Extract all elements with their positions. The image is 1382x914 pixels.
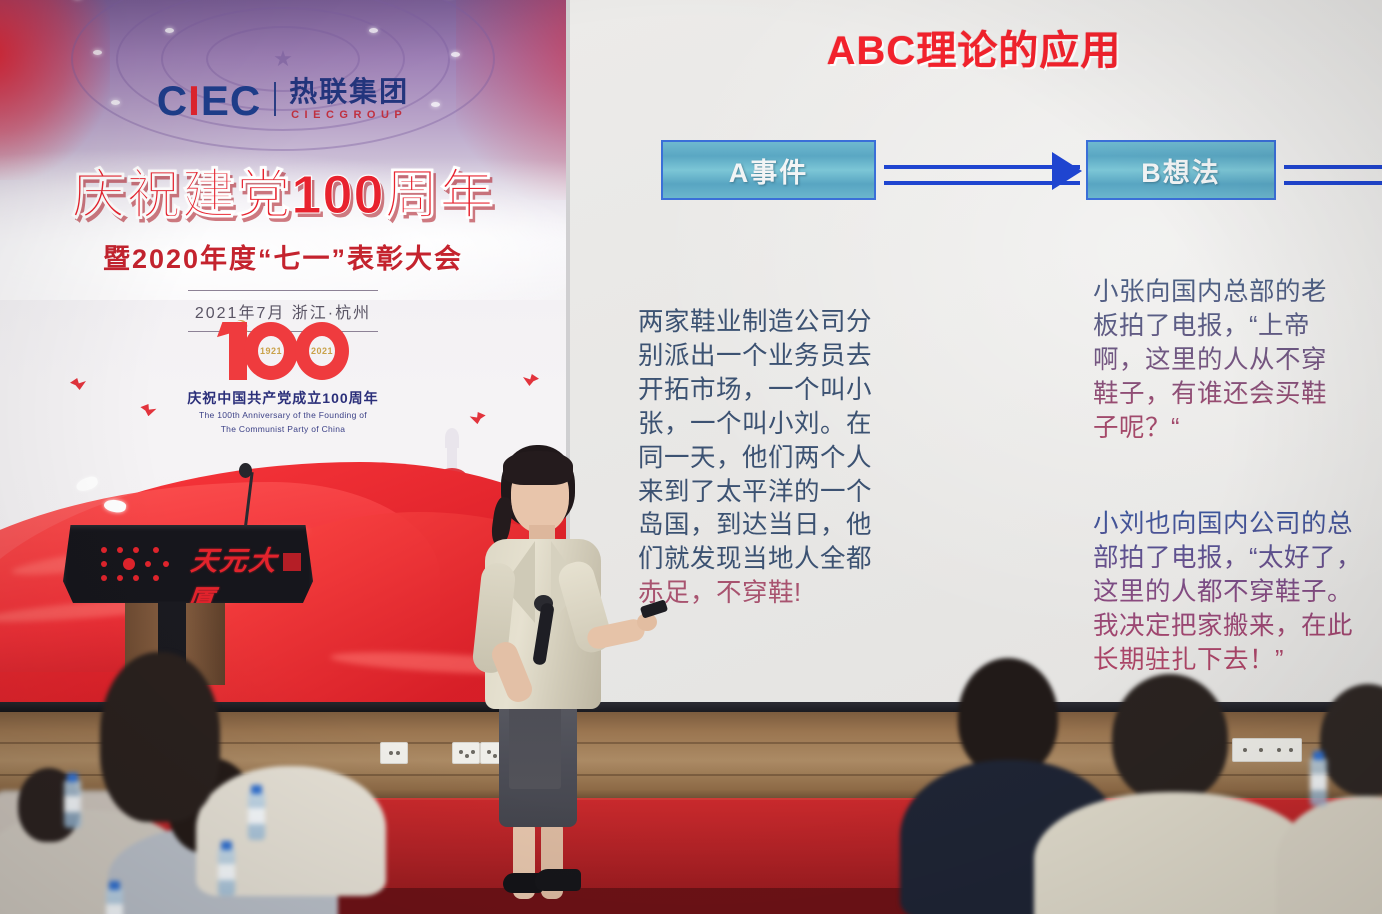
slide-title: ABC理论的应用 (566, 18, 1382, 76)
emblem-digit-zero-2: 2021 (295, 322, 349, 380)
water-bottle-2 (248, 792, 265, 840)
para-left-line-2: 开拓市场，一个叫小 (638, 374, 906, 408)
brand-lockup: CIEC 热联集团 CIECGROUP (0, 78, 566, 121)
para-rt-line-3: 鞋子，有谁还会买鞋 (1093, 378, 1373, 412)
dome-star-icon: ★ (273, 48, 293, 70)
flow-box-b-thought: B想法 (1086, 140, 1276, 200)
water-bottle-1 (64, 780, 81, 828)
flow-arrow-a-to-b (884, 161, 1080, 181)
brand-divider (274, 82, 276, 116)
para-rb-line-2: 这里的人都不穿鞋子。 (1093, 576, 1375, 610)
podium-front-panel: 天元大厦 (63, 525, 313, 603)
flow-box-a-event: A事件 (661, 140, 876, 200)
para-left-line-6: 岛国，到达当日，他 (638, 509, 906, 543)
audience-shoulders-5 (1034, 792, 1314, 914)
para-rb-line-1: 部拍了电报，“太好了， (1093, 542, 1375, 576)
podium-seal-icon (283, 553, 301, 571)
headline-date-location: 2021年7月 浙江·杭州 (0, 299, 566, 323)
headline-main: 庆祝建党100周年 (0, 150, 566, 229)
audience-shoulders-6 (1276, 796, 1382, 914)
slide-paragraph-right-top: 小张向国内总部的老 板拍了电报，“上帝 啊，这里的人从不穿 鞋子，有谁还会买鞋 … (1093, 276, 1373, 446)
projection-screen: ABC理论的应用 A事件 B想法 两家鞋业制造公司分 别派出一个业务员去 开拓市… (566, 0, 1382, 712)
para-rt-line-2: 啊，这里的人从不穿 (1093, 344, 1373, 378)
para-left-line-0: 两家鞋业制造公司分 (638, 306, 906, 340)
microphone-head-icon (239, 463, 252, 478)
audience-foreground (0, 640, 1382, 914)
flow-box-b-label: B想法 (1141, 151, 1221, 190)
para-rb-line-0: 小刘也向国内公司的总 (1093, 508, 1375, 542)
water-bottle-5 (1310, 758, 1327, 806)
emblem-digit-zero-1: 1921 (244, 322, 298, 380)
audience-head-6 (1320, 684, 1382, 796)
emblem-digit-one (217, 322, 247, 380)
slide-paragraph-left: 两家鞋业制造公司分 别派出一个业务员去 开拓市场，一个叫小 张，一个叫小刘。在 … (638, 306, 906, 611)
audience-head-3-longhair (100, 652, 220, 822)
para-left-line-1: 别派出一个业务员去 (638, 340, 906, 374)
para-left-highlight: 赤足，不穿鞋! (638, 577, 906, 611)
event-headline-group: 庆祝建党100周年 暨2020年度“七一”表彰大会 2021年7月 浙江·杭州 (0, 150, 566, 332)
audience-head-5 (1112, 674, 1228, 802)
para-rt-line-4: 子呢？“ (1093, 412, 1373, 446)
podium-dot-logo-icon (101, 547, 179, 583)
ciec-wordmark: CIEC (157, 81, 261, 121)
para-left-line-4: 同一天，他们两个人 (638, 442, 906, 476)
flow-arrow-b-to-c (1284, 161, 1382, 181)
photo-scene: ★ CIEC 热联集团 CIECGROUP (0, 0, 1382, 914)
brand-chinese-name: 热联集团 (289, 78, 409, 106)
para-left-line-5: 来到了太平洋的一个 (638, 476, 906, 510)
headline-rule-top (188, 290, 378, 291)
water-bottle-3 (218, 848, 235, 896)
water-bottle-4 (106, 888, 123, 914)
emblem-numeral-group: ☭ 19212021 (217, 322, 349, 384)
flow-box-a-label: A事件 (729, 151, 809, 190)
audience-head-4 (958, 658, 1058, 776)
para-rb-line-3: 我决定把家搬来，在此 (1093, 610, 1375, 644)
headline-subtitle: 暨2020年度“七一”表彰大会 (0, 237, 566, 276)
para-rt-line-0: 小张向国内总部的老 (1093, 276, 1373, 310)
para-rt-line-1: 板拍了电报，“上帝 (1093, 310, 1373, 344)
para-left-line-7: 们就发现当地人全都 (638, 543, 906, 577)
presenter-hair-front (503, 451, 573, 485)
para-left-line-3: 张，一个叫小刘。在 (638, 408, 906, 442)
brand-english-name: CIECGROUP (291, 109, 407, 121)
